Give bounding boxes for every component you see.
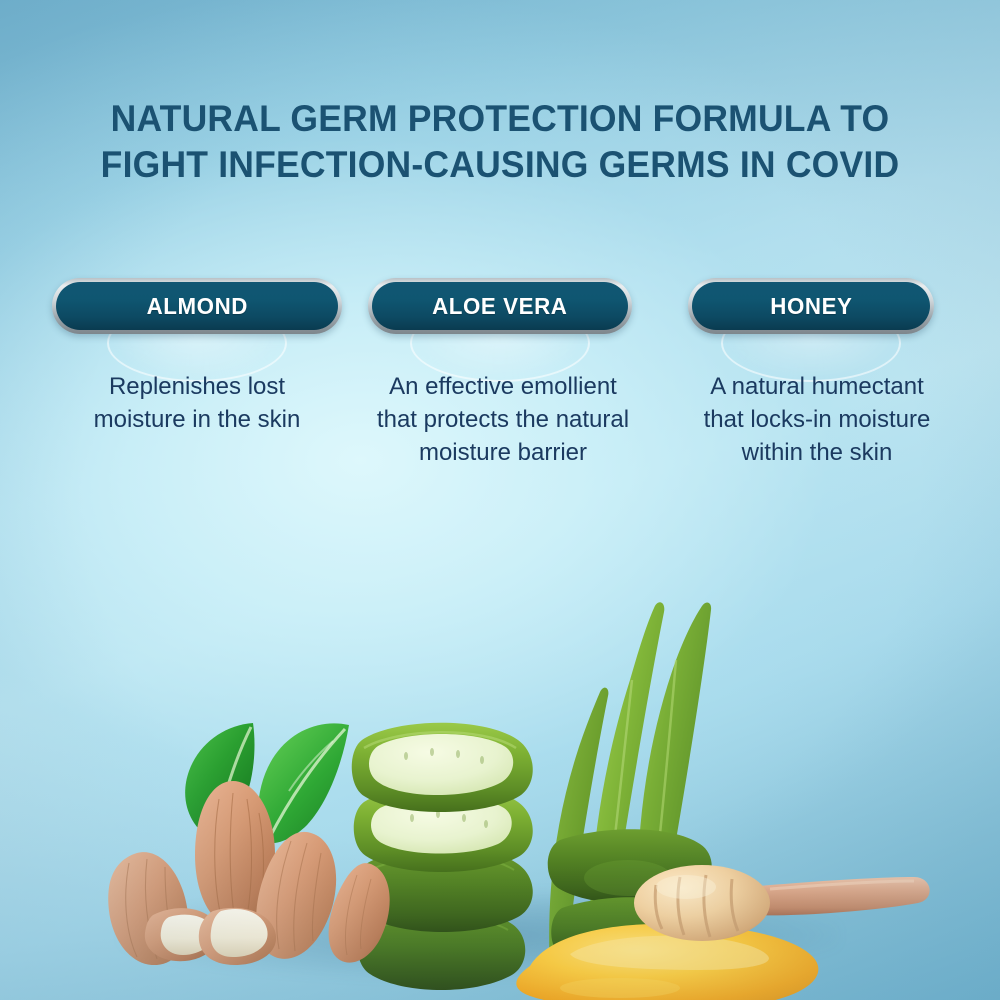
desc-line-2: that protects the natural	[358, 403, 648, 436]
desc-line-1: An effective emollient	[358, 370, 648, 403]
badge-label-aloe-vera: ALOE VERA	[432, 293, 567, 320]
infographic-canvas: NATURAL GERM PROTECTION FORMULA TO FIGHT…	[0, 0, 1000, 1000]
badge-inner-honey: HONEY	[692, 282, 930, 330]
ingredient-description-honey: A natural humectant that locks-in moistu…	[672, 370, 962, 469]
desc-line-3: within the skin	[672, 436, 962, 469]
page-title: NATURAL GERM PROTECTION FORMULA TO FIGHT…	[20, 96, 980, 188]
ingredient-badge-honey[interactable]: HONEY	[688, 278, 934, 334]
ingredient-badges-row: ALMOND ALOE VERA HONEY	[0, 278, 1000, 340]
desc-line-3: moisture barrier	[358, 436, 648, 469]
badge-label-almond: ALMOND	[146, 293, 247, 320]
honey-dipper-group	[630, 855, 940, 955]
desc-line-1: A natural humectant	[672, 370, 962, 403]
badge-frame-almond[interactable]: ALMOND	[52, 278, 342, 334]
desc-line-2: moisture in the skin	[52, 403, 342, 436]
desc-line-2: that locks-in moisture	[672, 403, 962, 436]
page-title-line-1: NATURAL GERM PROTECTION FORMULA TO	[20, 96, 980, 142]
ingredient-description-almond: Replenishes lost moisture in the skin	[52, 370, 342, 436]
ingredient-description-aloe-vera: An effective emollient that protects the…	[358, 370, 648, 469]
ingredient-badge-aloe-vera[interactable]: ALOE VERA	[368, 278, 632, 334]
badge-frame-aloe-vera[interactable]: ALOE VERA	[368, 278, 632, 334]
ingredient-badge-almond[interactable]: ALMOND	[52, 278, 342, 334]
desc-line-1: Replenishes lost	[52, 370, 342, 403]
almonds-group	[85, 715, 405, 965]
badge-label-honey: HONEY	[770, 293, 852, 320]
badge-inner-almond: ALMOND	[56, 282, 338, 330]
badge-frame-honey[interactable]: HONEY	[688, 278, 934, 334]
page-title-line-2: FIGHT INFECTION-CAUSING GERMS IN COVID	[20, 142, 980, 188]
badge-inner-aloe-vera: ALOE VERA	[372, 282, 628, 330]
almond-far-right	[329, 863, 390, 962]
